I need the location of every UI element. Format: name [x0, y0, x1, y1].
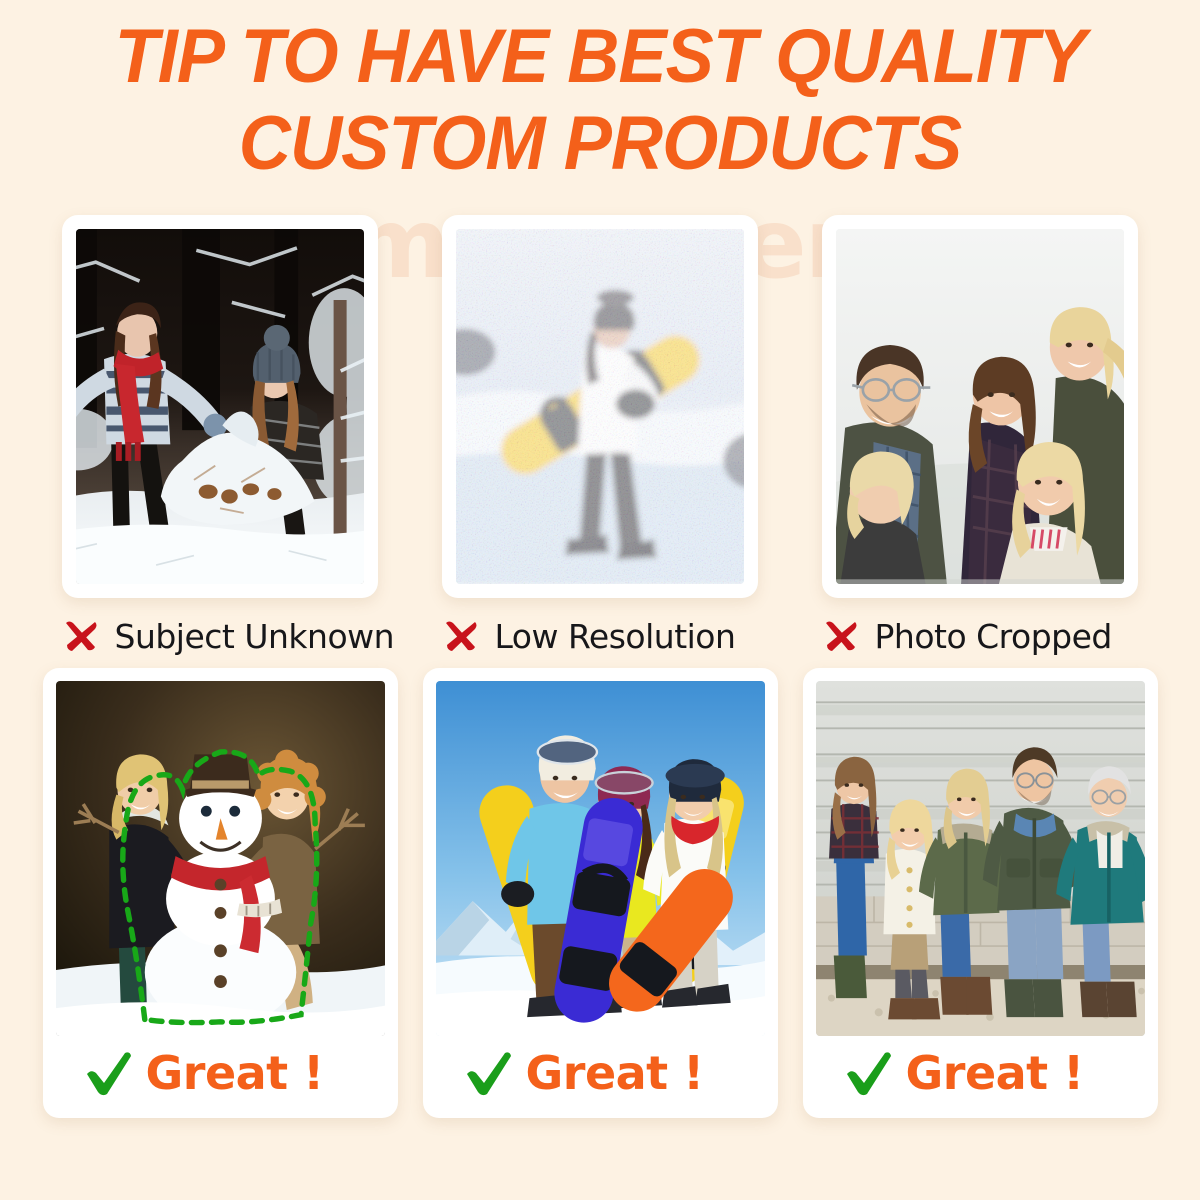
page-title: TIP TO HAVE BEST QUALITY CUSTOM PRODUCTS [30, 14, 1170, 187]
bad-example-label: Low Resolution [423, 616, 778, 656]
example-cell: Great ! [423, 668, 778, 1118]
bad-example-text: Subject Unknown [115, 617, 395, 656]
green-check-icon [462, 1047, 514, 1099]
red-x-icon [441, 616, 481, 656]
example-cell: Photo Cropped [803, 215, 1158, 656]
title-line-1: TIP TO HAVE BEST QUALITY [115, 14, 1086, 99]
bad-example-label: Photo Cropped [803, 616, 1158, 656]
green-check-icon [82, 1047, 134, 1099]
photo-card[interactable]: Great ! [43, 668, 398, 1118]
bad-example-text: Low Resolution [495, 617, 736, 656]
green-check-icon [842, 1047, 894, 1099]
good-examples-row: Great ! [0, 668, 1200, 1118]
photo-card[interactable] [822, 215, 1138, 598]
red-x-icon [821, 616, 861, 656]
good-example-text: Great ! [146, 1046, 324, 1100]
examples-grid: Subject Unknown [0, 215, 1200, 1118]
photo-family-portrait-cropped-at-bottom [836, 229, 1124, 584]
photo-three-snowboarders-on-mountain [436, 681, 765, 1036]
example-cell: Great ! [43, 668, 398, 1118]
title-line-2: CUSTOM PRODUCTS [30, 101, 1170, 188]
photo-card[interactable] [62, 215, 378, 598]
photo-pixelated-snowboarder-walking [456, 229, 744, 584]
photo-card[interactable] [442, 215, 758, 598]
good-example-text: Great ! [906, 1046, 1084, 1100]
red-x-icon [61, 616, 101, 656]
example-cell: Low Resolution [423, 215, 778, 656]
photo-family-of-five-full-body-portrait [816, 681, 1145, 1036]
photo-two-women-building-snowman-in-forest [76, 229, 364, 584]
photo-card[interactable]: Great ! [803, 668, 1158, 1118]
example-cell: Subject Unknown [43, 215, 398, 656]
bad-example-label: Subject Unknown [43, 616, 398, 656]
good-example-text: Great ! [526, 1046, 704, 1100]
photo-card[interactable]: Great ! [423, 668, 778, 1118]
infographic-page: macorner TIP TO HAVE BEST QUALITY CUSTOM… [0, 0, 1200, 1200]
photo-two-women-with-snowman-outlined [56, 681, 385, 1036]
good-example-label: Great ! [436, 1036, 765, 1112]
example-cell: Great ! [803, 668, 1158, 1118]
bad-examples-row: Subject Unknown [0, 215, 1200, 656]
bad-example-text: Photo Cropped [875, 617, 1112, 656]
good-example-label: Great ! [56, 1036, 385, 1112]
good-example-label: Great ! [816, 1036, 1145, 1112]
